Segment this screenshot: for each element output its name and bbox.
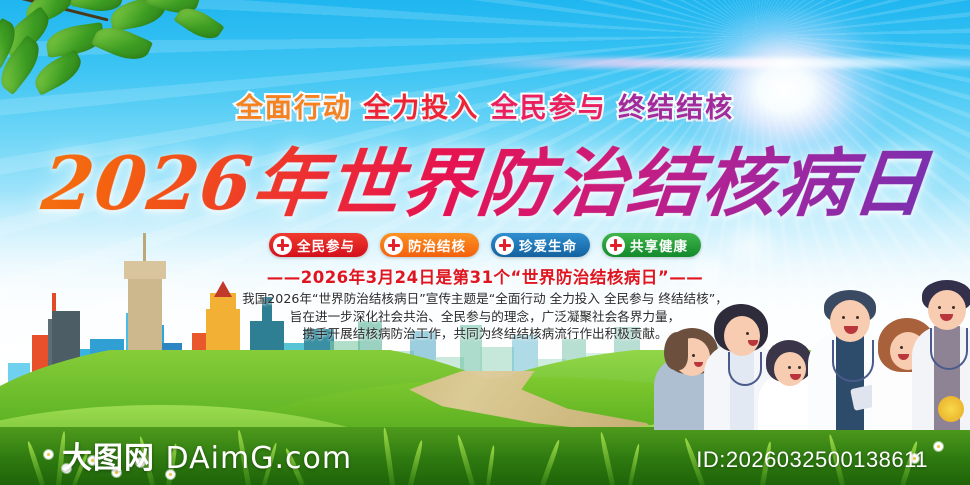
daisy-icon xyxy=(934,442,943,451)
image-id-watermark: ID:2026032500138611 xyxy=(696,447,928,473)
red-cross-icon xyxy=(273,236,292,255)
stethoscope-icon xyxy=(832,340,874,382)
site-watermark-en: DAimG.com xyxy=(166,441,353,476)
body-paragraph: 我国2026年“世界防治结核病日”宣传主题是“全面行动 全力投入 全民参与 终结… xyxy=(205,290,765,343)
badge-fangzhijiehe[interactable]: 防治结核 xyxy=(380,233,479,257)
badge-quanmincanyu[interactable]: 全民参与 xyxy=(269,233,368,257)
badge-gongxiangjiankang[interactable]: 共享健康 xyxy=(602,233,701,257)
paragraph-line: 携手开展结核病防治工作，共同为终结结核病流行作出积极贡献。 xyxy=(205,325,765,343)
red-cross-icon xyxy=(384,236,403,255)
daisy-icon xyxy=(44,450,53,459)
tagline-phrase-1: 全面行动 xyxy=(236,93,352,124)
subtitle: ——2026年3月24日是第31个“世界防治结核病日”—— xyxy=(0,264,970,288)
badge-label: 全民参与 xyxy=(297,235,355,255)
badge-label: 珍爱生命 xyxy=(519,235,577,255)
badge-label: 共享健康 xyxy=(630,235,688,255)
tagline: 全面行动 全力投入 全民参与 终结结核 xyxy=(0,86,970,125)
tagline-phrase-3: 全民参与 xyxy=(491,93,607,124)
stethoscope-icon xyxy=(728,352,762,386)
paragraph-line: 旨在进一步深化社会共治、全民参与的理念，广泛凝聚社会各界力量， xyxy=(205,308,765,326)
red-cross-icon xyxy=(606,236,625,255)
badge-row: 全民参与 防治结核 珍爱生命 共享健康 xyxy=(0,233,970,257)
red-cross-icon xyxy=(495,236,514,255)
tagline-phrase-4: 终结结核 xyxy=(618,93,734,124)
main-title: 2026年世界防治结核病日 xyxy=(0,138,970,230)
paragraph-line: 我国2026年“世界防治结核病日”宣传主题是“全面行动 全力投入 全民参与 终结… xyxy=(205,290,765,308)
sunflower-icon xyxy=(938,396,964,422)
site-watermark: 大图网 DAimG.com xyxy=(62,433,352,477)
tagline-phrase-2: 全力投入 xyxy=(363,93,479,124)
poster-canvas: 全面行动 全力投入 全民参与 终结结核 2026年世界防治结核病日 全民参与 防… xyxy=(0,0,970,485)
stethoscope-icon xyxy=(930,328,968,370)
badge-zhenaishengming[interactable]: 珍爱生命 xyxy=(491,233,590,257)
site-watermark-cn: 大图网 xyxy=(62,441,155,476)
badge-label: 防治结核 xyxy=(408,235,466,255)
